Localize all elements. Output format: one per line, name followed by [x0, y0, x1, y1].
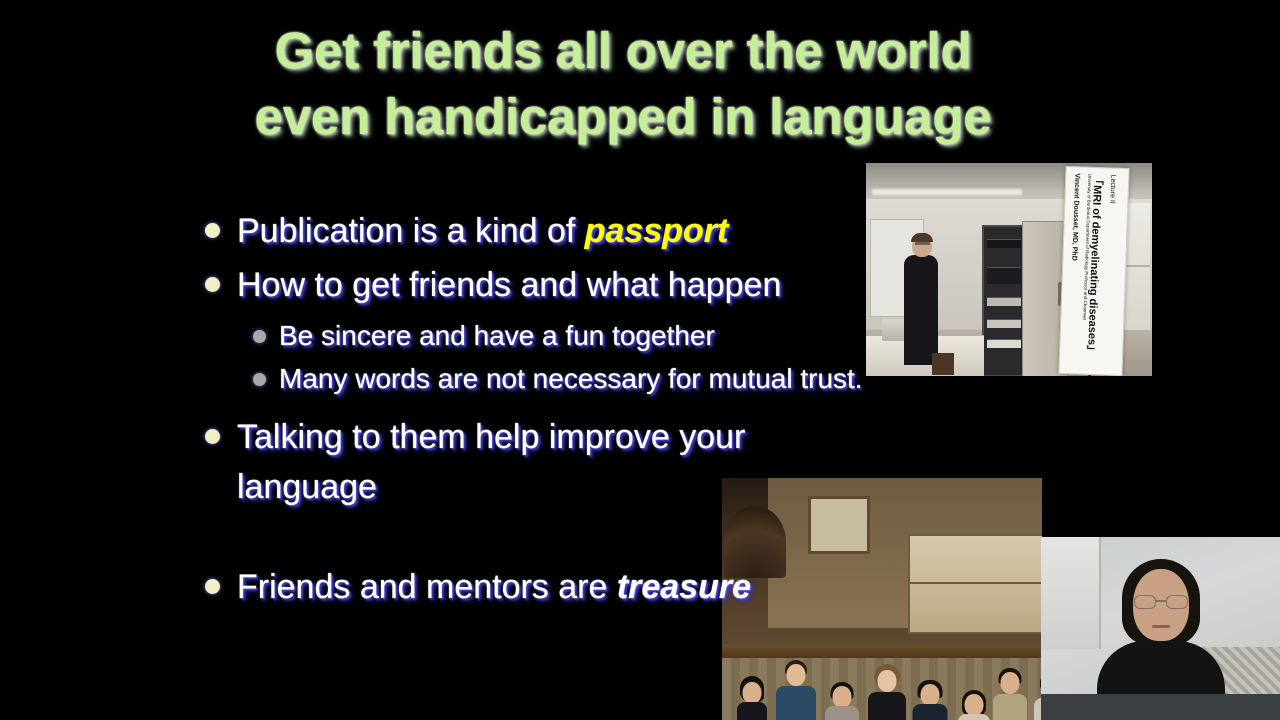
photo-light-strip	[872, 189, 1022, 195]
bullet-emphasis: treasure	[617, 568, 751, 606]
sub-bullet-dot-icon	[253, 330, 266, 343]
bullet-talking-improves-language: Talking to them help improve your langua…	[205, 412, 965, 512]
bullet-text: Publication is a kind of passport	[237, 206, 728, 256]
sub-bullet-be-sincere: Be sincere and have a fun together	[253, 314, 965, 357]
page-title: Get friends all over the world even hand…	[204, 18, 1042, 150]
bullet-text: How to get friends and what happen	[237, 260, 781, 310]
sub-bullet-many-words: Many words are not necessary for mutual …	[253, 357, 965, 400]
bullet-dot-icon	[205, 223, 220, 238]
title-line-1: Get friends all over the world	[204, 18, 1042, 84]
bullet-emphasis: passport	[585, 212, 729, 250]
bullet-friends-and-mentors: Friends and mentors are treasure	[205, 562, 965, 612]
bullet-how-to-get-friends: How to get friends and what happen	[205, 260, 965, 310]
bullet-dot-icon	[205, 579, 220, 594]
group-photo-wood-trim	[722, 644, 1042, 658]
bullet-text: Talking to them help improve your langua…	[237, 412, 887, 512]
webcam-person-glasses	[1134, 595, 1188, 607]
sub-bullet-text: Many words are not necessary for mutual …	[279, 357, 863, 400]
bullet-text-plain: Friends and mentors are	[237, 568, 617, 606]
webcam-bottom-bar	[1041, 694, 1280, 720]
photo-lecture-banner: Lecture II 「MRI of demyelinating disease…	[1058, 166, 1129, 376]
sub-bullet-dot-icon	[253, 373, 266, 386]
banner-line-4: Vincent Dousset, MD, PhD	[1070, 173, 1080, 261]
bullet-spacer	[205, 516, 965, 562]
presentation-slide: Lecture II 「MRI of demyelinating disease…	[0, 0, 1280, 720]
bullet-publication: Publication is a kind of passport	[205, 206, 965, 256]
bullet-text: Friends and mentors are treasure	[237, 562, 751, 612]
presenter-webcam-feed[interactable]	[1041, 537, 1280, 720]
sub-bullet-group: Be sincere and have a fun together Many …	[253, 314, 965, 400]
slide-body: Publication is a kind of passport How to…	[205, 206, 965, 616]
title-line-2: even handicapped in language	[204, 84, 1042, 150]
webcam-window-blind	[1041, 537, 1101, 649]
bullet-text-plain: Publication is a kind of	[237, 212, 585, 250]
webcam-person-mouth	[1152, 625, 1170, 628]
sub-bullet-text: Be sincere and have a fun together	[279, 314, 715, 357]
bullet-dot-icon	[205, 429, 220, 444]
bullet-dot-icon	[205, 277, 220, 292]
banner-line-1: Lecture II	[1108, 174, 1116, 203]
